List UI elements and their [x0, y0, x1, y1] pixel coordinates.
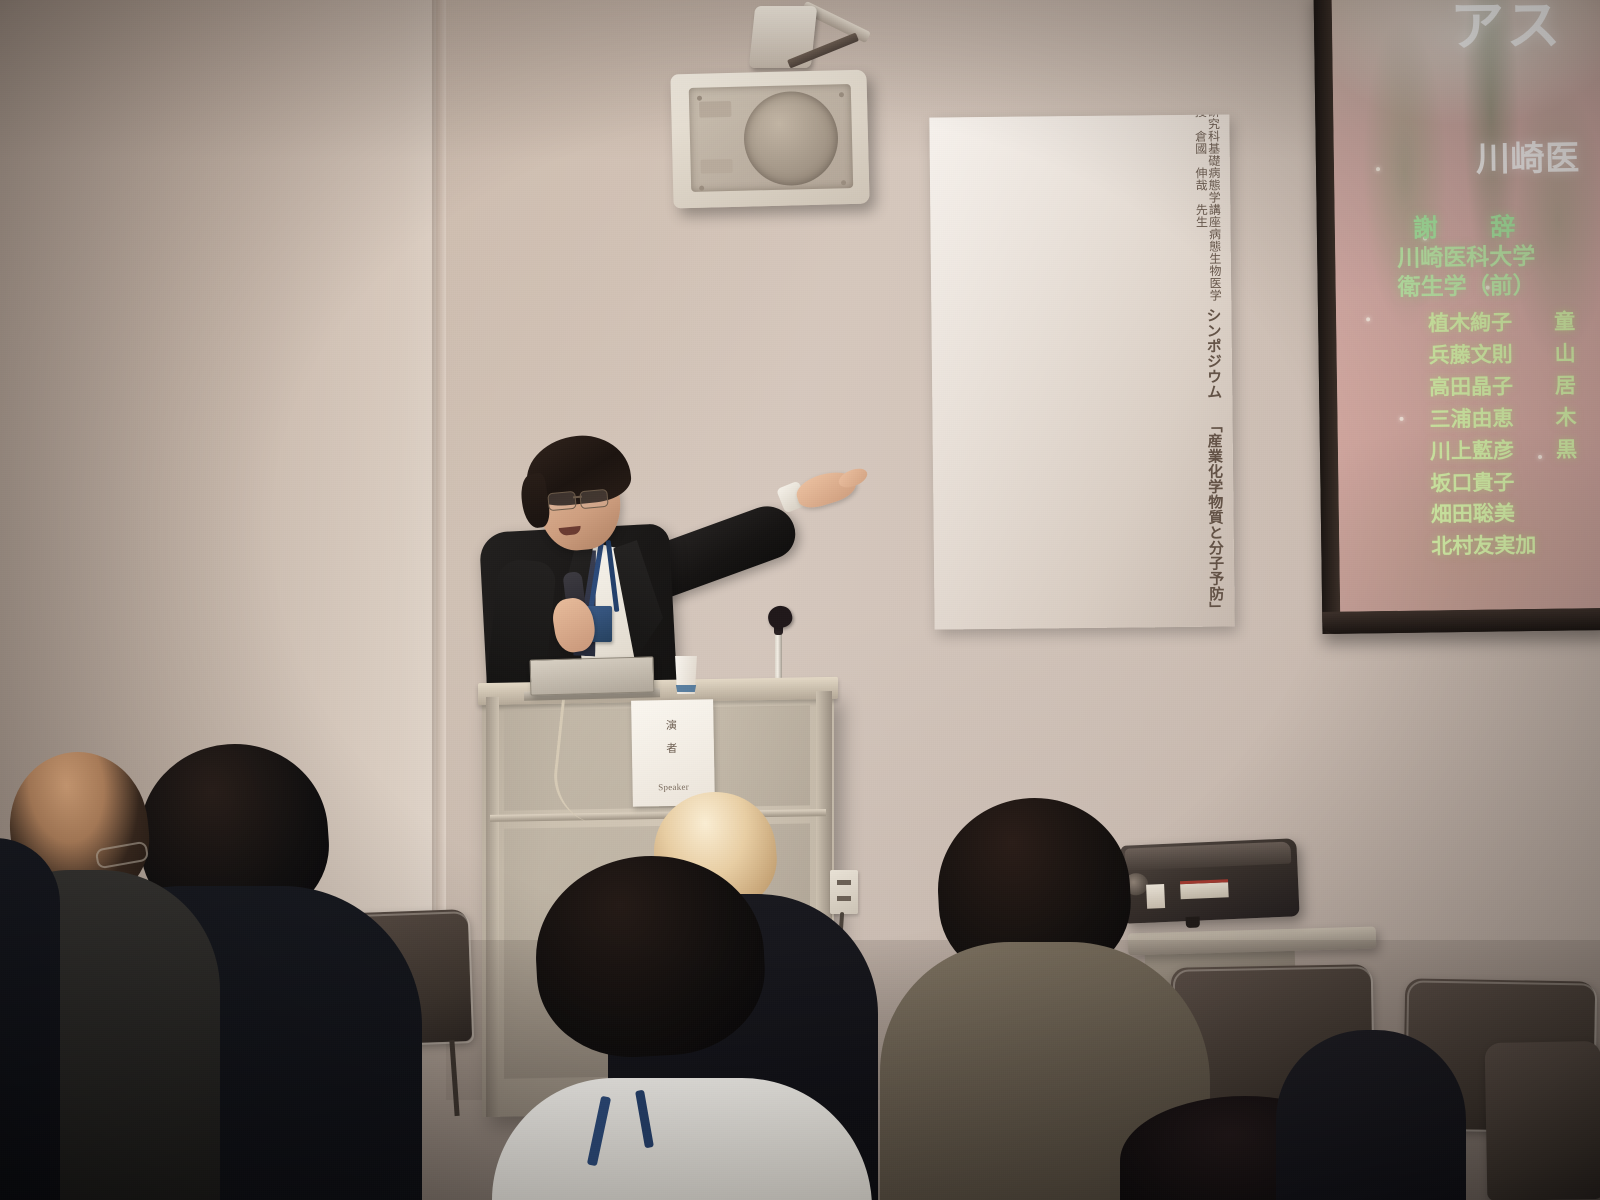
- power-outlet-icon: [830, 870, 858, 914]
- speaker-tweeter-top: [699, 101, 731, 118]
- slide-organization-line1: 川崎医科大学: [1397, 243, 1535, 274]
- paper-cup-band: [675, 685, 697, 692]
- speaker-screw: [839, 92, 844, 97]
- screen-surface: アス 川崎医 謝 辞 川崎医科大学 衛生学（前） 植木絢子 童 兵藤文則 山 高…: [1332, 0, 1600, 612]
- speaker-placard: 演 者 Speaker: [631, 699, 715, 806]
- slide-subtitle: 川崎医: [1476, 130, 1581, 180]
- glasses-icon: [547, 491, 576, 511]
- program-poster: シンポジウム 「産業化学物質と分子予防」 座長 京都大学大学院医学研究科基礎病態…: [929, 114, 1234, 629]
- poster-chair: 座長 京都大学大学院医学研究科基礎病態学講座病態生物医学 准教授 倉國 伸哉 先…: [943, 114, 1221, 304]
- slide-name: 高田晶子 居: [1429, 370, 1576, 404]
- slide-title: アス: [1449, 0, 1562, 61]
- speaker-cone: [743, 90, 839, 186]
- slide-name: 川上藍彦 黒: [1430, 434, 1577, 468]
- speaker-screw: [699, 186, 704, 191]
- projection-screen: アス 川崎医 謝 辞 川崎医科大学 衛生学（前） 植木絢子 童 兵藤文則 山 高…: [1314, 0, 1600, 634]
- placard-japanese-line1: 演: [666, 716, 680, 737]
- slide-name: 植木絢子 童: [1428, 306, 1575, 340]
- placard-english-label: Speaker: [658, 782, 689, 793]
- projector-icon: [1120, 838, 1299, 924]
- projector-label: [1180, 879, 1229, 899]
- audience-shoulders: [1276, 1030, 1466, 1200]
- photograph-scene: シンポジウム 「産業化学物質と分子予防」 座長 京都大学大学院医学研究科基礎病態…: [0, 0, 1600, 1200]
- slide-name: 北村友実加: [1431, 530, 1578, 564]
- projector-top-cover: [1125, 841, 1292, 870]
- slide-highlight: [1376, 167, 1380, 171]
- speaker-icon: [670, 70, 869, 209]
- speaker-screw: [841, 180, 846, 185]
- slide-organization: 川崎医科大学 衛生学（前）: [1397, 243, 1536, 304]
- slide-acknowledgement-heading: 謝 辞: [1413, 207, 1530, 245]
- glasses-icon: [579, 489, 608, 509]
- placard-japanese-line2: 者: [666, 739, 680, 760]
- laptop-icon: [530, 656, 655, 695]
- slide-name-list: 植木絢子 童 兵藤文則 山 高田晶子 居 三浦由恵 木 川上藍彦 黒 坂口貴子 …: [1428, 306, 1579, 563]
- poster-title: シンポジウム 「産業化学物質と分子予防」: [945, 302, 1224, 620]
- projector-side-label: [1146, 884, 1165, 909]
- speaker-grille: [689, 84, 853, 192]
- slide-highlight: [1400, 417, 1404, 421]
- audience-shoulders: [0, 838, 60, 1200]
- speaker-tweeter-bottom: [700, 159, 732, 174]
- screen-bottom-bar: [1322, 608, 1600, 634]
- slide-highlight: [1366, 317, 1370, 321]
- slide-organization-line2: 衛生学（前）: [1398, 272, 1536, 303]
- outlet-slot: [837, 880, 851, 885]
- lectern-shelf: [490, 809, 826, 822]
- projector-foot: [1186, 916, 1200, 928]
- slide-name: 三浦由恵 木: [1429, 402, 1576, 436]
- slide-name: 兵藤文則 山: [1428, 338, 1575, 372]
- outlet-slot: [837, 896, 851, 901]
- slide-name: 畑田聡美: [1431, 498, 1578, 532]
- slide-name: 坂口貴子: [1430, 466, 1577, 500]
- chair: [1485, 1041, 1600, 1200]
- speaker-screw: [697, 96, 702, 101]
